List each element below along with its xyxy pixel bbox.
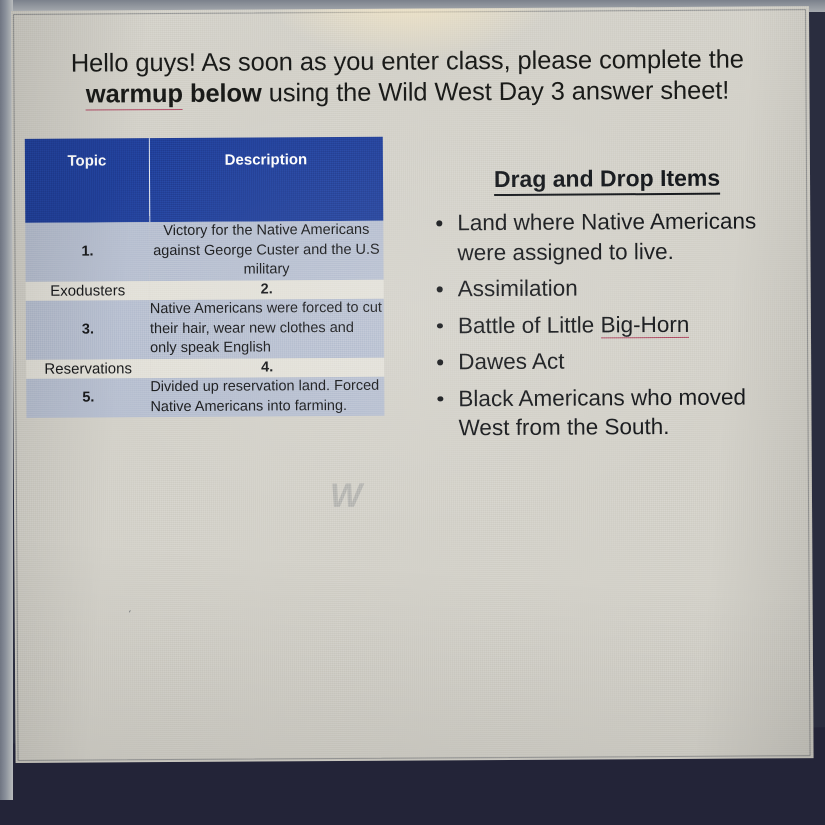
row-3-description: Native Americans were forced to cut thei… xyxy=(150,299,384,359)
faint-watermark: W xyxy=(330,477,402,531)
table-row[interactable]: Reservations 4. xyxy=(26,357,384,379)
row-1-topic: 1. xyxy=(25,222,149,281)
stray-pen-mark: ˊ xyxy=(127,608,134,623)
dd-item-5-text: Black Americans who moved West from the … xyxy=(458,384,746,440)
row-3-topic: 3. xyxy=(26,300,150,359)
list-item[interactable]: Battle of Little Big-Horn xyxy=(427,309,787,341)
table-row[interactable]: 1. Victory for the Native Americans agai… xyxy=(25,221,383,282)
list-item[interactable]: Black Americans who moved West from the … xyxy=(427,382,787,443)
dd-item-1-text: Land where Native Americans were assigne… xyxy=(457,208,756,264)
table-header-row: Topic Description xyxy=(25,137,384,223)
table-row[interactable]: Exodusters 2. xyxy=(26,279,384,301)
row-4-description: 4. xyxy=(150,357,384,378)
column-header-description: Description xyxy=(149,137,384,222)
title-below-word: below xyxy=(183,79,262,107)
photographed-screen: Hello guys! As soon as you enter class, … xyxy=(0,0,825,825)
drag-and-drop-heading-text: Drag and Drop Items xyxy=(494,165,720,196)
title-warmup-word: warmup xyxy=(86,80,183,111)
drag-and-drop-list: Land where Native Americans were assigne… xyxy=(426,206,787,450)
row-5-description: Divided up reservation land. Forced Nati… xyxy=(150,377,384,417)
presentation-slide: Hello guys! As soon as you enter class, … xyxy=(11,6,814,763)
list-item[interactable]: Dawes Act xyxy=(427,345,787,377)
drag-and-drop-heading: Drag and Drop Items xyxy=(442,164,772,193)
dd-item-4-text: Dawes Act xyxy=(458,349,564,375)
matching-table: Topic Description 1. Victory for the Nat… xyxy=(25,137,385,418)
dd-item-3-spellcheck-word: Big-Horn xyxy=(600,311,689,338)
dd-item-3-text: Battle of Little xyxy=(458,312,601,338)
row-2-description: 2. xyxy=(150,279,384,300)
table-row[interactable]: 5. Divided up reservation land. Forced N… xyxy=(26,377,384,418)
slide-instruction-title: Hello guys! As soon as you enter class, … xyxy=(37,44,777,111)
dd-item-2-text: Assimilation xyxy=(458,276,578,302)
table-row[interactable]: 3. Native Americans were forced to cut t… xyxy=(26,299,384,360)
column-header-topic: Topic xyxy=(25,138,150,223)
title-line-2-tail: using the Wild West Day 3 answer sheet! xyxy=(262,77,730,108)
row-1-description: Victory for the Native Americans against… xyxy=(149,221,383,281)
row-5-topic: 5. xyxy=(26,378,150,418)
row-4-topic: Reservations xyxy=(26,359,150,379)
title-line-1: Hello guys! As soon as you enter class, … xyxy=(71,46,744,78)
list-item[interactable]: Assimilation xyxy=(427,272,787,304)
list-item[interactable]: Land where Native Americans were assigne… xyxy=(426,206,786,267)
row-2-topic: Exodusters xyxy=(26,281,150,301)
